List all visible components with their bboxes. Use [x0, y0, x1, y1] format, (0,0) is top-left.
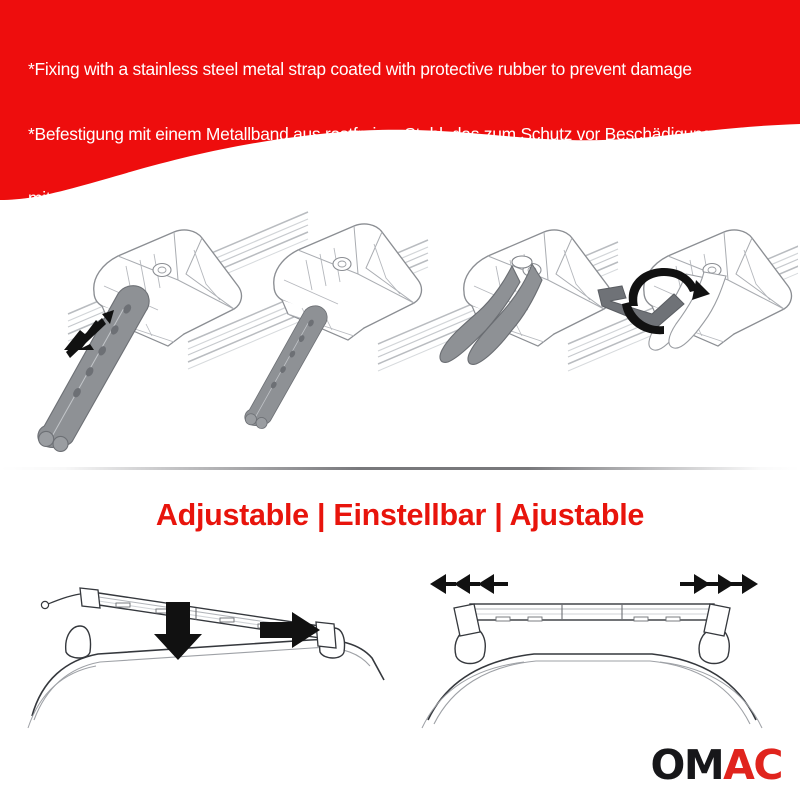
logo-text-dark: OM — [651, 745, 724, 786]
omac-logo: OMAC — [651, 742, 782, 786]
logo-text-red: AC — [723, 745, 782, 786]
section-title: Adjustable | Einstellbar | Ajustable — [0, 498, 800, 533]
adjustability-illustrations — [14, 560, 792, 740]
crossbar-front-view — [422, 574, 762, 728]
installation-steps-illustration — [8, 196, 798, 458]
product-infographic: *Fixing with a stainless steel metal str… — [0, 0, 800, 800]
header-banner: *Fixing with a stainless steel metal str… — [0, 0, 800, 215]
triple-left-arrow-icon — [430, 574, 508, 594]
banner-line-2: *Befestigung mit einem Metallband aus ro… — [28, 124, 788, 146]
section-divider — [0, 467, 800, 470]
banner-line-1: *Fixing with a stainless steel metal str… — [28, 59, 788, 81]
step-4-tighten-allen-key — [568, 230, 798, 371]
triple-right-arrow-icon — [680, 574, 758, 594]
crossbar-side-view — [28, 588, 384, 728]
